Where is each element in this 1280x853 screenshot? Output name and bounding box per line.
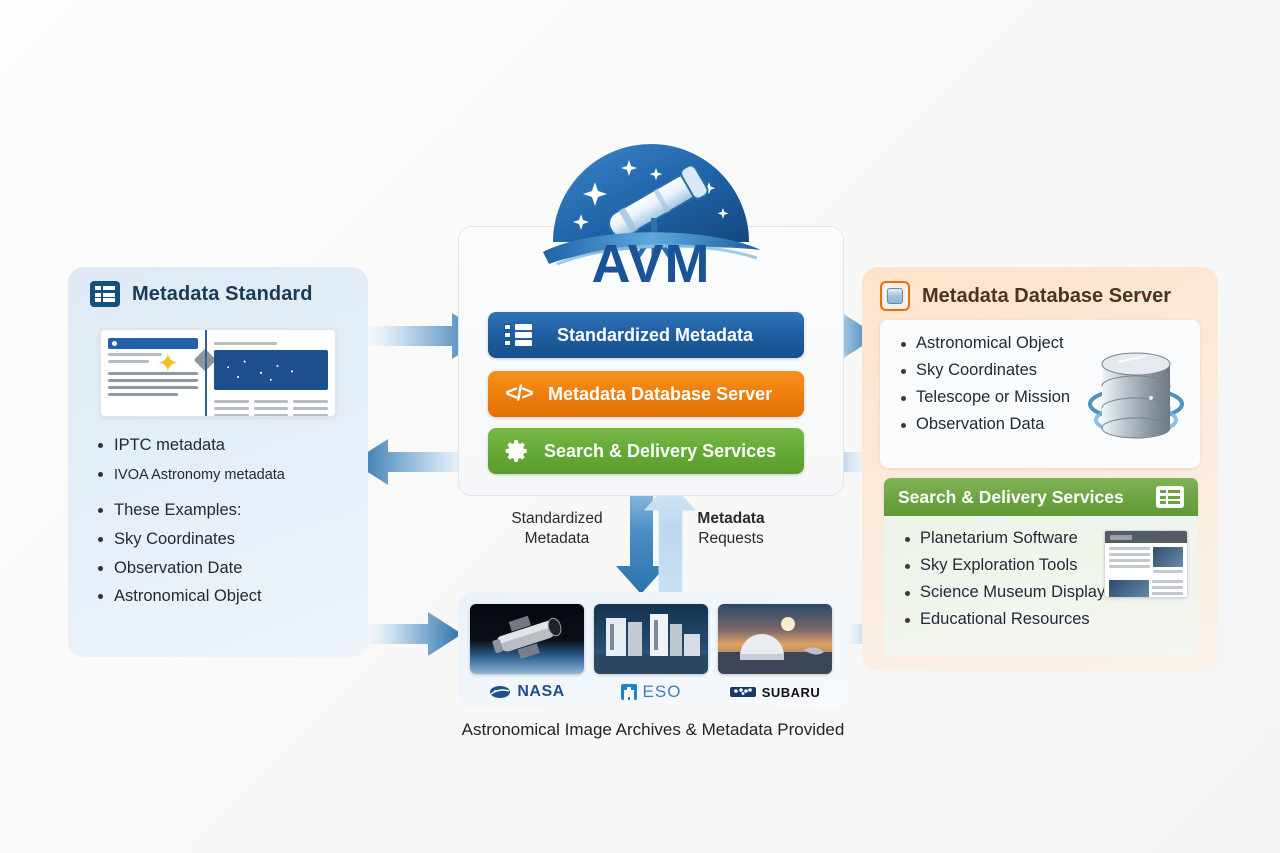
standardized-metadata-bar[interactable]: Standardized Metadata <box>488 312 804 358</box>
list-item: Astronomical Object <box>896 334 1070 353</box>
thumbnail-browser-bar <box>1105 531 1187 543</box>
subaru-label: SUBARU <box>762 685 821 700</box>
metadata-standard-panel: Metadata Standard ✦ <box>68 267 368 657</box>
list-item-label: Observation Date <box>114 559 242 577</box>
list-item-label: Planetarium Software <box>920 529 1078 547</box>
metadata-standard-title: Metadata Standard <box>132 283 313 306</box>
list-item: Sky Coordinates <box>896 361 1070 380</box>
flow-std-line1: Standardized <box>511 510 602 527</box>
list-item: These Examples: <box>92 500 354 521</box>
nasa-logo: NASA <box>470 679 584 705</box>
list-item-label: Educational Resources <box>920 610 1090 628</box>
search-delivery-list: Planetarium SoftwareSky Exploration Tool… <box>900 529 1114 637</box>
flow-label-standardized-metadata: Standardized Metadata <box>482 509 632 549</box>
list-item-label: Sky Exploration Tools <box>920 556 1077 574</box>
list-item: Observation Data <box>896 415 1070 434</box>
arrow-left-to-archives <box>352 612 462 656</box>
thumbnail-starfield-chart <box>214 350 328 390</box>
database-fields-list: Astronomical ObjectSky CoordinatesTelesc… <box>896 334 1070 442</box>
list-item-label: Science Museum Displays <box>920 583 1114 601</box>
search-delivery-title: Search & Delivery Services <box>898 487 1124 508</box>
list-item: IVOA Astronomy metadata <box>92 464 354 485</box>
list-item: Science Museum Displays <box>900 583 1114 602</box>
eso-label: ESO <box>643 682 682 702</box>
search-delivery-header: Search & Delivery Services <box>884 478 1198 516</box>
database-icon <box>880 281 910 311</box>
table-icon <box>90 281 120 307</box>
nasa-mark-icon <box>489 685 511 699</box>
list-item-label: IPTC metadata <box>114 436 225 454</box>
document-layout-thumbnail: ✦ <box>100 329 336 417</box>
list-item: Planetarium Software <box>900 529 1114 548</box>
flow-req-line1: Metadata <box>697 510 764 527</box>
metadata-standard-header: Metadata Standard <box>68 267 368 313</box>
list-item: Sky Exploration Tools <box>900 556 1114 575</box>
web-browser-results-thumbnail <box>1104 530 1188 598</box>
table-icon <box>1156 486 1184 508</box>
database-cylinder-icon <box>1088 342 1184 446</box>
hubble-space-telescope-photo <box>470 604 584 674</box>
database-server-title: Metadata Database Server <box>922 285 1171 308</box>
list-item-label: Sky Coordinates <box>916 361 1037 379</box>
list-item: Educational Resources <box>900 610 1114 629</box>
eso-logo: ESO <box>594 679 708 705</box>
list-item-label: Astronomical Object <box>114 587 262 605</box>
list-item-label: Telescope or Mission <box>916 388 1070 406</box>
search-delivery-services-label: Search & Delivery Services <box>544 441 816 462</box>
list-item-label: Observation Data <box>916 415 1044 433</box>
subaru-logo: SUBARU <box>718 679 832 705</box>
star-icon: ✦ <box>157 350 179 376</box>
diagram-canvas: Metadata Standard ✦ <box>0 0 1280 853</box>
database-server-header: Metadata Database Server <box>862 267 1218 319</box>
thumbnail-title-bar <box>108 338 198 349</box>
list-item-label: Sky Coordinates <box>114 530 235 548</box>
thumbnail-left-column: ✦ <box>101 330 205 416</box>
archive-provider-nasa[interactable]: NASA <box>470 604 584 705</box>
metadata-standard-list: IPTC metadataIVOA Astronomy metadataThes… <box>92 435 354 615</box>
avm-wordmark: AVM <box>458 233 844 295</box>
search-delivery-card: Planetarium SoftwareSky Exploration Tool… <box>884 516 1198 656</box>
list-item: Observation Date <box>92 558 354 579</box>
flow-std-line2: Metadata <box>525 530 590 547</box>
nasa-label: NASA <box>517 683 564 701</box>
vlt-observatory-photo <box>594 604 708 674</box>
list-item: Telescope or Mission <box>896 388 1070 407</box>
archive-provider-subaru[interactable]: SUBARU <box>718 604 832 705</box>
search-delivery-services-bar[interactable]: Search & Delivery Services <box>488 428 804 474</box>
eso-mark-icon <box>621 684 637 700</box>
archive-provider-eso[interactable]: ESO <box>594 604 708 705</box>
list-item-label: These Examples: <box>114 501 241 519</box>
list-item: Astronomical Object <box>92 586 354 607</box>
archive-provider-row: NASA <box>458 592 848 705</box>
list-item-label: Astronomical Object <box>916 334 1064 352</box>
subaru-mark-icon <box>730 685 756 699</box>
list-icon <box>504 323 532 347</box>
subaru-telescope-dome-photo <box>718 604 832 674</box>
flow-req-line2: Requests <box>698 530 763 547</box>
list-item: IPTC metadata <box>92 435 354 456</box>
database-fields-card: Astronomical ObjectSky CoordinatesTelesc… <box>880 320 1200 468</box>
image-archives-panel: NASA <box>458 592 848 708</box>
list-item-label: IVOA Astronomy metadata <box>114 467 285 483</box>
list-item: Sky Coordinates <box>92 529 354 550</box>
code-icon: </> <box>504 382 534 406</box>
metadata-database-server-panel: Metadata Database Server Astronomical Ob… <box>862 267 1218 671</box>
thumbnail-right-column <box>205 330 335 416</box>
metadata-database-server-label: Metadata Database Server <box>548 384 812 405</box>
gear-icon <box>504 438 530 464</box>
flow-label-metadata-requests: Metadata Requests <box>656 509 806 549</box>
metadata-database-server-bar[interactable]: </> Metadata Database Server <box>488 371 804 417</box>
archives-caption: Astronomical Image Archives & Metadata P… <box>458 720 848 740</box>
standardized-metadata-label: Standardized Metadata <box>546 325 804 346</box>
